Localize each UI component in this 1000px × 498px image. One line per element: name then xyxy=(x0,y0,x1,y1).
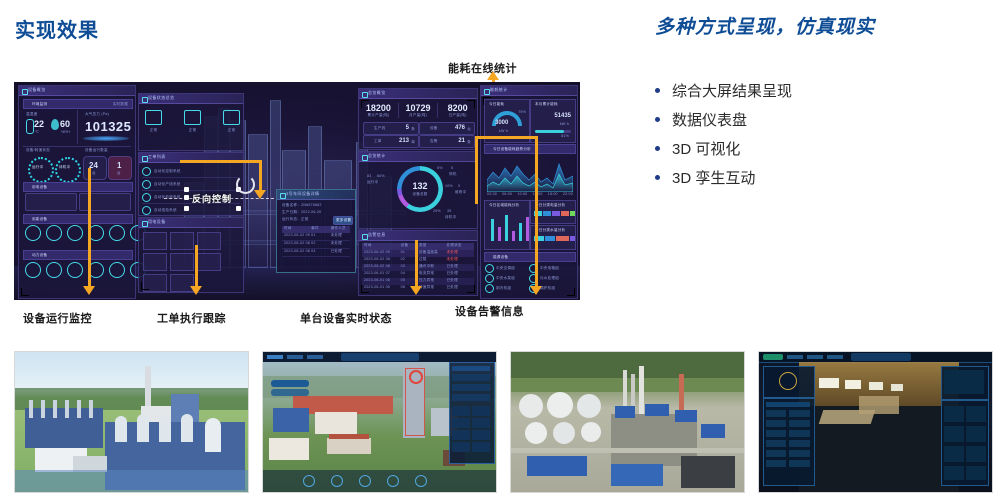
list-item-label: 中央空调组 xyxy=(496,266,515,271)
device-icon[interactable] xyxy=(46,225,62,241)
cell-time: 2023-06-02 09 xyxy=(282,233,311,240)
panel-row xyxy=(766,402,810,407)
status-label: 正常 xyxy=(184,128,201,133)
corner-bracket xyxy=(141,282,149,290)
device-icon-row xyxy=(25,262,146,278)
building xyxy=(315,412,357,434)
gauge-left-label: 运行中 xyxy=(32,165,43,170)
order-icon xyxy=(142,206,151,215)
window-light xyxy=(869,382,883,390)
column-header: 操作人员 xyxy=(331,226,350,233)
selection-handle[interactable] xyxy=(236,206,241,211)
table-row[interactable]: 2023-06-02 0803通讯中断已处理 xyxy=(362,264,474,271)
tick-label: 10:00 xyxy=(517,192,527,196)
panel-donut[interactable]: 总览统计 132 设备总数 83 60% 运行中 5% 5 停机 10% 9 维… xyxy=(358,151,478,229)
selection-handle[interactable] xyxy=(184,206,189,211)
building xyxy=(327,438,371,454)
list-item[interactable]: 制冷机组 xyxy=(485,283,529,293)
temp-unit: ℃ xyxy=(35,130,39,134)
list-item[interactable]: 自动巡检系统 xyxy=(142,204,240,216)
panel-cell xyxy=(766,430,786,437)
donut-center-caption: 设备总数 xyxy=(397,192,443,197)
cell-type: 压力异常 xyxy=(419,278,447,285)
kpi-cell-value: 5 xyxy=(406,125,409,131)
roof xyxy=(329,434,369,439)
thumbnail-digital-twin[interactable] xyxy=(262,351,497,493)
kpi-cell[interactable]: 告警21条 xyxy=(419,135,475,148)
kpi-cell[interactable]: 设备476台 xyxy=(419,122,475,135)
table-row[interactable]: 2023-06-02 0901未处理 xyxy=(282,233,350,241)
callout-reverse-control: 反向控制 xyxy=(192,192,232,205)
bottom-label-1: 设备运行监控 xyxy=(23,310,92,326)
device-icon[interactable] xyxy=(67,262,83,278)
panel-title: 设备概览 xyxy=(28,87,46,93)
panel-header: 总览统计 xyxy=(359,152,477,162)
list-item[interactable]: 自动化控制系统 xyxy=(142,165,240,178)
heat-cell xyxy=(561,211,569,216)
heat-cell xyxy=(545,236,555,241)
more-settings-button[interactable]: 更多设置 xyxy=(333,216,353,225)
gauge-value: 3000 xyxy=(495,120,508,126)
blue-building xyxy=(611,464,663,486)
panel-header: 总览概览 xyxy=(359,89,477,99)
count-b-chip: 1 台 xyxy=(108,156,132,180)
dark-unit xyxy=(681,456,735,488)
panel-row xyxy=(452,394,490,401)
status-icon-row: 正常 正常 正常 xyxy=(145,110,240,133)
dashboard-screenshot[interactable]: 设备概览 环境监测 实时数据 温湿度 22 ℃ 60 %RH 大气压力 (Pa)… xyxy=(14,82,580,300)
subpanel-title: 动力设备 xyxy=(32,253,47,258)
panel-row xyxy=(452,366,490,371)
cell-state: 已处理 xyxy=(331,249,350,256)
temp-value: 22 xyxy=(34,119,44,129)
cell-type: 通讯中断 xyxy=(419,264,447,271)
donut-legend-percent: 10% xyxy=(445,184,453,188)
cell-state: 未处理 xyxy=(447,257,475,264)
list-item-label: 自动化控制系统 xyxy=(154,169,181,174)
device-icon[interactable] xyxy=(25,262,41,278)
panel-cell xyxy=(452,418,470,428)
list-item: 数据仪表盘 xyxy=(655,105,985,134)
panel-header: 告警信息 xyxy=(359,231,477,241)
nav-item[interactable] xyxy=(287,355,303,359)
panel-row xyxy=(452,384,490,391)
table-row[interactable]: 2023-06-02 0802过载未处理 xyxy=(362,257,474,264)
table-row[interactable]: 2023-06-01 0704电流异常已处理 xyxy=(362,271,474,278)
cell-time: 2023-06-02 09 xyxy=(362,250,401,257)
popup-model-detail[interactable]: 3号车间设备详情 设备名称：ZN6876882 生产日期：2022-06-20 … xyxy=(276,189,356,273)
nav-logo xyxy=(763,354,783,360)
table-row[interactable]: 2023-06-02 0802未处理 xyxy=(282,241,350,249)
panel-header: 能耗统计 xyxy=(481,86,577,96)
device-icon[interactable] xyxy=(109,262,125,278)
thumbnail-refinery-aerial[interactable] xyxy=(510,351,745,493)
order-icon xyxy=(142,193,151,202)
blue-building xyxy=(527,456,587,476)
pallet-stack xyxy=(859,396,899,414)
selection-handle[interactable] xyxy=(184,187,189,192)
kpi-cell-label: 工单 xyxy=(374,139,382,144)
humidity-value: 60 xyxy=(60,119,70,129)
cell-type: 01 xyxy=(311,233,330,240)
arrow-3-head xyxy=(410,286,422,295)
humidity-icon xyxy=(51,119,59,130)
window-light xyxy=(891,384,903,391)
column xyxy=(89,400,93,418)
corner-bracket xyxy=(467,285,475,293)
storage-tank xyxy=(519,394,543,418)
kpi-cell-unit: 单 xyxy=(411,140,415,145)
nav-item[interactable] xyxy=(307,355,323,359)
panel-cell xyxy=(789,450,810,457)
gauge-group-label: 设备/转速状态 xyxy=(26,148,50,153)
panel-cell xyxy=(766,450,786,457)
trend-svg xyxy=(487,154,573,192)
page-title-right: 多种方式呈现，仿真现实 xyxy=(655,12,875,39)
corner-bracket xyxy=(467,100,475,108)
stack xyxy=(679,374,684,414)
feature-list: 综合大屏结果呈现 数据仪表盘 3D 可视化 3D 孪生互动 xyxy=(655,76,985,192)
detail-cell[interactable] xyxy=(170,253,194,271)
cell-time: 2023-06-01 07 xyxy=(362,271,401,278)
highlight-marker xyxy=(409,370,423,384)
bottom-toolbar[interactable] xyxy=(263,470,496,492)
progress-fill xyxy=(535,130,564,133)
tank xyxy=(159,416,171,442)
detail-cell[interactable] xyxy=(143,232,167,250)
column xyxy=(53,400,57,418)
kpi-cell-label: 生产线 xyxy=(374,126,385,131)
trend-xaxis: 02:00 06:00 10:00 14:00 18:00 22:00 xyxy=(487,192,573,196)
work-order-list: 自动化控制系统 自动化产线系统 自动化检测系统 自动巡检系统 xyxy=(142,165,240,216)
tank xyxy=(205,418,221,452)
temp-label: 温湿度 xyxy=(26,112,37,117)
device-card[interactable] xyxy=(25,193,77,211)
thumbnail-indoor-scene[interactable] xyxy=(758,351,993,493)
device-icon-row xyxy=(25,225,146,241)
cell-time: 2023-06-01 06 xyxy=(362,278,401,285)
heat-cell xyxy=(570,236,575,241)
panel-work-order-detail[interactable]: 用电设备 xyxy=(138,217,244,293)
bar xyxy=(491,219,494,241)
camera-tile[interactable] xyxy=(944,406,964,422)
toolbar-icon[interactable] xyxy=(303,475,315,487)
panel-title: 能耗统计 xyxy=(490,87,508,93)
window-light xyxy=(845,380,861,389)
panel-header: 用电设备 xyxy=(139,218,243,228)
nav-item[interactable] xyxy=(267,355,283,359)
detail-cell[interactable] xyxy=(143,253,167,271)
cell-state: 已处理 xyxy=(447,278,475,285)
cell-state: 未处理 xyxy=(331,241,350,248)
list-item-label: 锅炉机组 xyxy=(540,286,555,291)
radar-view xyxy=(944,370,984,394)
thermometer-icon xyxy=(26,119,34,134)
pressure-value: 101325 xyxy=(85,119,131,134)
more-settings-label: 更多设置 xyxy=(336,218,351,223)
panel-cell xyxy=(789,460,810,467)
count-b-value: 1 xyxy=(117,161,121,170)
device-icon xyxy=(485,274,494,283)
list-item-label: 自动化产线系统 xyxy=(154,182,181,187)
device-card[interactable] xyxy=(79,193,131,211)
subpanel-title: 环境监测 xyxy=(32,102,47,107)
field xyxy=(511,378,744,392)
donut-center-value: 132 xyxy=(397,181,443,191)
list-item[interactable]: 中央空调组 xyxy=(485,263,529,273)
panel-cell xyxy=(472,442,490,452)
trend-header: 今日设备能耗趋势分析 xyxy=(484,144,576,154)
camera-tile[interactable] xyxy=(966,446,986,462)
list-item-label: 数据仪表盘 xyxy=(672,109,747,130)
kpi-cell-label: 告警 xyxy=(430,139,438,144)
donut-legend-value: 9 xyxy=(458,184,460,188)
camera-tile[interactable] xyxy=(966,426,986,442)
pressure-glow xyxy=(83,136,129,141)
tank xyxy=(137,414,149,442)
storage-tank xyxy=(553,422,575,444)
cell-state: 未处理 xyxy=(447,250,475,257)
toolbar-icon[interactable] xyxy=(331,475,343,487)
subpanel-title: 用能设备 xyxy=(32,217,47,222)
kpi-caption: 日产量(吨) xyxy=(438,113,477,118)
corner-bracket xyxy=(361,100,369,108)
trend-title: 今日设备能耗趋势分析 xyxy=(493,147,531,152)
storage-tank xyxy=(577,394,601,418)
gauge-left xyxy=(28,157,54,183)
gauge-unit: kW·h xyxy=(499,129,508,133)
toolbar-icon[interactable] xyxy=(387,475,399,487)
building xyxy=(273,408,309,432)
panel-cell xyxy=(452,442,470,452)
toolbar-icon[interactable] xyxy=(415,475,427,487)
rotate-icon[interactable] xyxy=(236,175,255,194)
energy-list-header: 能源设备 xyxy=(484,252,576,262)
progress-unit: kW·h xyxy=(560,122,569,126)
tank xyxy=(115,416,127,442)
column-header: 类型 xyxy=(419,243,447,250)
table-header: 时间 设备 类型 处理状态 xyxy=(362,243,474,250)
bar-chart-card[interactable]: 今日区域能耗分析 xyxy=(484,200,530,250)
subpanel-title: 用电设备 xyxy=(32,185,47,190)
foreground-structure xyxy=(15,470,248,492)
thumbnail-3d-plant[interactable] xyxy=(14,351,249,493)
detail-cell[interactable] xyxy=(170,232,194,250)
heatmap-strip xyxy=(534,236,575,241)
model-field: 运行状态：正常 xyxy=(282,217,309,222)
panel-cell xyxy=(452,406,470,416)
tree-line xyxy=(15,388,248,410)
toolbar-icon[interactable] xyxy=(359,475,371,487)
arrow-4-v xyxy=(535,136,538,288)
device-icon[interactable] xyxy=(67,225,83,241)
bullet-dot xyxy=(655,146,660,151)
bar xyxy=(498,227,501,241)
panel-row xyxy=(452,374,490,381)
camera-tile[interactable] xyxy=(966,406,986,422)
panel-cell xyxy=(452,430,470,440)
device-icon xyxy=(145,110,162,125)
camera-tile[interactable] xyxy=(966,466,986,480)
humidity-unit: %RH xyxy=(61,130,70,134)
tick-label: 22:00 xyxy=(563,192,573,196)
panel-cell xyxy=(472,406,490,416)
nav-title xyxy=(341,353,419,361)
panel-cell xyxy=(766,440,786,447)
donut-legend-value: 5 xyxy=(451,166,453,170)
status-label: 正常 xyxy=(223,128,240,133)
storage-tank xyxy=(581,422,601,442)
badge-icon xyxy=(779,372,797,390)
trend-area-chart xyxy=(487,154,573,192)
heatmap-strip xyxy=(534,211,575,216)
order-icon xyxy=(142,180,151,189)
nav-item[interactable] xyxy=(807,355,823,359)
kpi-caption: 累计产量(吨) xyxy=(359,113,398,118)
panel-device-status[interactable]: 设备状态总览 正常 正常 正常 xyxy=(138,93,244,151)
cell-time: 2023-06-02 08 xyxy=(362,264,401,271)
cell-type: 03 xyxy=(311,249,330,256)
status-item[interactable]: 正常 xyxy=(145,110,162,133)
column-header: 事件 xyxy=(311,226,330,233)
panel-energy[interactable]: 能耗统计 今日能耗 3000 kW·h 79% 本月累计能耗 51435 kW·… xyxy=(480,85,578,299)
panel-cell xyxy=(789,440,810,447)
kpi-cell-value: 213 xyxy=(399,138,409,144)
storage-tank xyxy=(547,392,573,418)
list-item: 3D 可视化 xyxy=(655,134,985,163)
panel-title: 告警信息 xyxy=(368,232,386,238)
list-item-label: 3D 孪生互动 xyxy=(672,167,755,188)
heat-cell xyxy=(570,211,575,216)
panel-cell xyxy=(472,430,490,440)
order-icon xyxy=(142,167,151,176)
status-item[interactable]: 正常 xyxy=(223,110,240,133)
kpi-row: 18200累计产量(吨) 10729月产量(吨) 8200日产量(吨) xyxy=(359,103,477,118)
blue-building xyxy=(615,406,635,418)
column-header: 时间 xyxy=(282,226,311,233)
panel-title: 总览统计 xyxy=(368,153,386,159)
list-item[interactable]: 自动化产线系统 xyxy=(142,178,240,191)
kpi-cell-unit: 台 xyxy=(467,127,471,132)
bar xyxy=(505,215,508,241)
progress-percent: 81% xyxy=(561,134,569,138)
table-row[interactable]: 2023-06-01 0605压力异常已处理 xyxy=(362,278,474,285)
panel-title: 用电设备 xyxy=(148,219,166,225)
arrow-1-v2 xyxy=(88,225,91,288)
detail-grid xyxy=(143,232,239,292)
nav-item[interactable] xyxy=(827,355,843,359)
list-item-label: 制冷机组 xyxy=(496,286,511,291)
donut-legend-value: 83 xyxy=(367,174,371,178)
device-icon xyxy=(223,110,240,125)
arrow-4-h xyxy=(475,136,538,139)
selection-handle[interactable] xyxy=(184,195,189,200)
camera-tile[interactable] xyxy=(944,446,964,462)
bullet-dot xyxy=(655,175,660,180)
device-icon xyxy=(184,110,201,125)
table-row[interactable]: 2023-06-02 0803已处理 xyxy=(282,249,350,257)
detail-cell[interactable] xyxy=(197,253,221,271)
arrow-1-v1 xyxy=(88,168,91,228)
subpanel-power-header: 用电设备 xyxy=(23,182,133,192)
tank xyxy=(181,414,193,442)
blue-building xyxy=(701,424,725,438)
window-light xyxy=(819,378,839,388)
kpi-cell[interactable]: 工单213单 xyxy=(363,135,419,148)
device-icon xyxy=(485,284,494,293)
cell-state: 未处理 xyxy=(331,233,350,240)
nav-item[interactable] xyxy=(787,355,803,359)
panel-cell xyxy=(789,430,810,437)
count-a-unit: 台 xyxy=(92,171,96,176)
column-header: 处理状态 xyxy=(447,243,475,250)
cell-type: 转速异常 xyxy=(419,285,447,292)
tick-label: 02:00 xyxy=(487,192,497,196)
arrow-2-v2 xyxy=(195,245,198,288)
device-icon xyxy=(485,264,494,273)
arrow-energy-head xyxy=(487,71,499,80)
panel-device-overview[interactable]: 设备概览 环境监测 实时数据 温湿度 22 ℃ 60 %RH 大气压力 (Pa)… xyxy=(18,85,136,299)
bottom-label-4: 设备告警信息 xyxy=(455,303,524,319)
floating-label[interactable] xyxy=(271,389,309,396)
corner-bracket xyxy=(483,97,491,105)
cell-type: 电流异常 xyxy=(419,271,447,278)
kpi-cell[interactable]: 生产线5条 xyxy=(363,122,419,135)
status-item[interactable]: 正常 xyxy=(184,110,201,133)
donut-legend-percent: 25% xyxy=(433,209,441,213)
panel-title: 工单列表 xyxy=(148,154,166,160)
camera-tile[interactable] xyxy=(944,426,964,442)
column xyxy=(65,400,69,418)
model-table: 时间 事件 操作人员 2023-06-02 0901未处理 2023-06-02… xyxy=(282,226,350,257)
kpi-cell-unit: 条 xyxy=(411,127,415,132)
donut-legend-name: 运行中 xyxy=(367,180,378,185)
kpi-cell-value: 21 xyxy=(458,138,465,144)
panel-title: 总览概览 xyxy=(368,90,386,96)
arrow-3-v2 xyxy=(415,262,418,288)
arrow-4-v-up xyxy=(475,136,478,204)
page-title-left: 实现效果 xyxy=(15,14,99,43)
device-icon[interactable] xyxy=(25,225,41,241)
list-item-label: 自动巡检系统 xyxy=(154,208,177,213)
panel-cell xyxy=(766,460,786,467)
bottom-label-3: 单台设备实时状态 xyxy=(300,310,392,326)
device-icon[interactable] xyxy=(109,225,125,241)
list-item-label: 中央水泵组 xyxy=(496,276,515,281)
column-header: 时间 xyxy=(362,243,401,250)
blue-building xyxy=(675,410,697,422)
heatmap-title: 今日分类电量分析 xyxy=(535,203,565,208)
energy-list: 中央空调组 中央电箱组 中央水泵组 污水处理组 制冷机组 锅炉机组 xyxy=(485,263,573,293)
cell-type: 过载 xyxy=(419,257,447,264)
pressure-label: 大气压力 (Pa) xyxy=(85,112,109,117)
divider xyxy=(23,146,131,147)
camera-tile[interactable] xyxy=(944,466,964,480)
donut-legend-name: 停机 xyxy=(449,172,457,177)
panel-kpi[interactable]: 总览概览 18200累计产量(吨) 10729月产量(吨) 8200日产量(吨)… xyxy=(358,88,478,150)
detail-cell[interactable] xyxy=(197,232,221,250)
device-icon[interactable] xyxy=(46,262,62,278)
list-item[interactable]: 中央水泵组 xyxy=(485,273,529,283)
table-row[interactable]: 2023-06-02 0901设备温度高未处理 xyxy=(362,250,474,257)
popup-title: 3号车间设备详情 xyxy=(286,191,319,197)
bar xyxy=(512,231,515,241)
divider xyxy=(77,110,78,144)
panel-cell xyxy=(766,420,786,427)
floating-label[interactable] xyxy=(271,380,309,387)
panel-title: 设备状态总览 xyxy=(148,95,174,101)
list-item-label: 综合大屏结果呈现 xyxy=(672,80,792,101)
